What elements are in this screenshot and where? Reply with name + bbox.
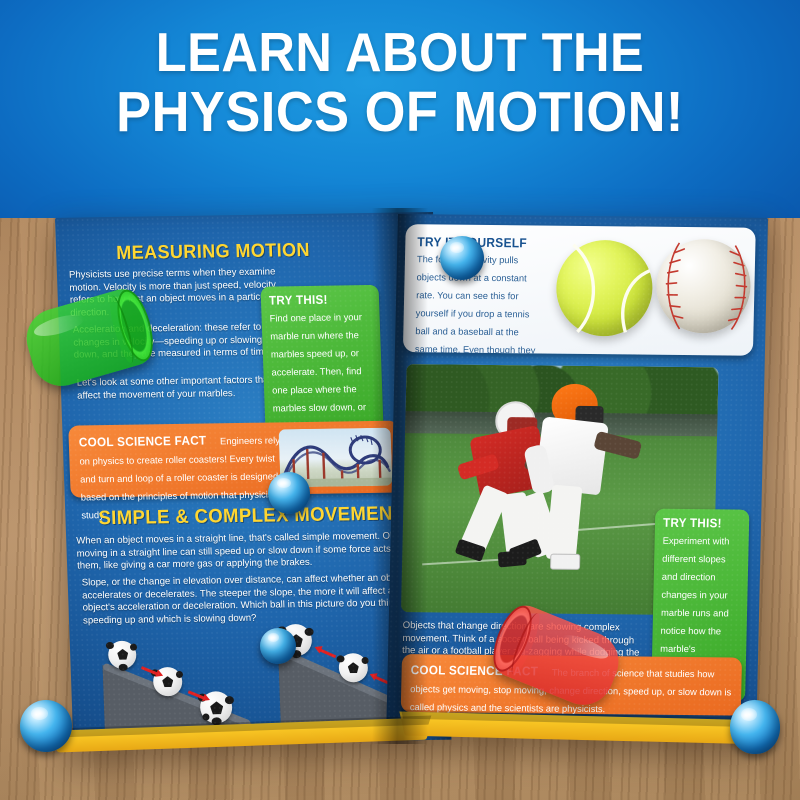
title-line-1: LEARN ABOUT THE [156, 21, 645, 83]
paragraph-measuring-3: Let's look at some other important facto… [77, 374, 292, 403]
baseball-photo [655, 239, 751, 334]
heading-simple-complex-movement: SIMPLE & COMPLEX MOVEMENT [98, 502, 412, 530]
paragraph-movement-1: When an object moves in a straight line,… [76, 530, 427, 573]
try-this-box-left: TRY THIS! Find one place in your marble … [261, 285, 384, 443]
header-banner: LEARN ABOUT THE PHYSICS OF MOTION! [0, 0, 800, 218]
try-this-title-left: TRY THIS! [269, 292, 364, 307]
try-this-body-left: Find one place in your marble run where … [269, 311, 366, 431]
title-line-2: PHYSICS OF MOTION! [32, 82, 768, 142]
cool-fact-title-left: COOL SCIENCE FACT [79, 434, 207, 450]
blue-glass-marble [20, 700, 72, 752]
try-this-title-right: TRY THIS! [663, 516, 736, 531]
tennis-ball-photo [555, 240, 653, 337]
heading-measuring-motion: MEASURING MOTION [116, 239, 402, 265]
blue-glass-marble [260, 628, 296, 664]
paragraph-movement-2: Slope, or the change in elevation over d… [82, 572, 434, 628]
page-title: LEARN ABOUT THE PHYSICS OF MOTION! [32, 22, 768, 142]
blue-glass-marble [730, 700, 780, 754]
player-white-orange [519, 383, 674, 605]
ramp-diagram-downhill [94, 633, 267, 732]
cool-science-fact-box-left: COOL SCIENCE FACTEngineers rely on physi… [68, 421, 401, 498]
blue-glass-marble [440, 236, 484, 280]
blue-glass-marble [268, 472, 310, 514]
